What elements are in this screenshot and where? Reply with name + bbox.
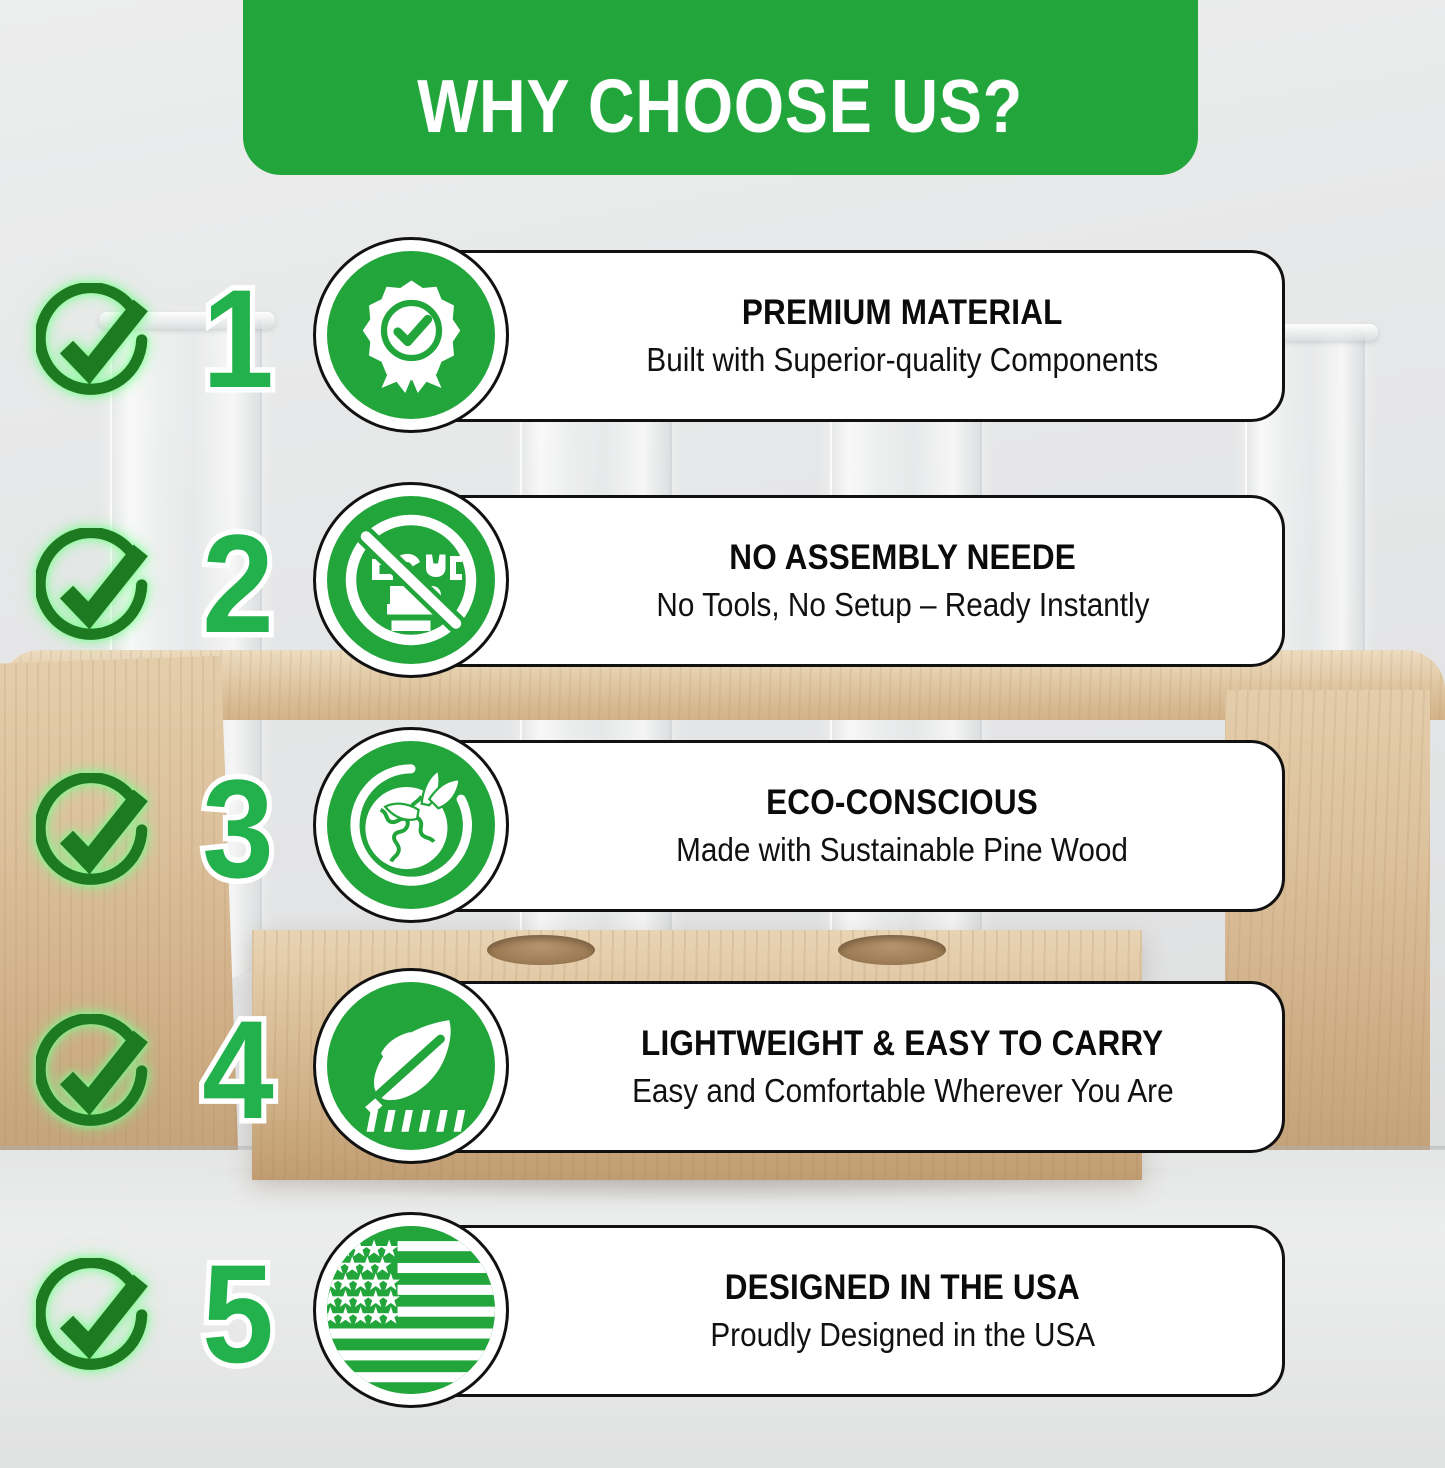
page-title: WHY CHOOSE US?	[418, 63, 1024, 149]
feature-title: LIGHTWEIGHT & EASY TO CARRY	[641, 1025, 1163, 1064]
feature-number: 4	[183, 994, 293, 1146]
feature-title: ECO-CONSCIOUS	[767, 784, 1039, 823]
checkmark-icon	[36, 773, 158, 895]
feature-subtitle: Proudly Designed in the USA	[710, 1317, 1095, 1353]
feature-title: PREMIUM MATERIAL	[742, 294, 1063, 333]
checkmark-icon	[36, 283, 158, 405]
usa-flag-icon	[313, 1212, 509, 1408]
no-tools-icon	[313, 482, 509, 678]
feature-number: 1	[183, 263, 293, 415]
feature-card: NO ASSEMBLY NEEDE No Tools, No Setup – R…	[398, 495, 1285, 667]
header-banner: WHY CHOOSE US?	[243, 0, 1198, 175]
quality-badge-icon	[313, 237, 509, 433]
feature-row: 3 ECO-CONS	[0, 727, 1445, 927]
feature-number: 3	[183, 753, 293, 905]
checkmark-icon	[36, 1014, 158, 1136]
feature-card: PREMIUM MATERIAL Built with Superior-qua…	[398, 250, 1285, 422]
feature-card: LIGHTWEIGHT & EASY TO CARRY Easy and Com…	[398, 981, 1285, 1153]
checkmark-icon	[36, 1258, 158, 1380]
feature-title: NO ASSEMBLY NEEDE	[729, 539, 1076, 578]
feature-subtitle: Built with Superior-quality Components	[647, 342, 1159, 378]
feature-card: DESIGNED IN THE USA Proudly Designed in …	[398, 1225, 1285, 1397]
feature-number: 5	[183, 1238, 293, 1390]
feature-title: DESIGNED IN THE USA	[725, 1269, 1080, 1308]
feather-leaf-icon	[313, 968, 509, 1164]
feature-row: 1 PREMIUM MATERIAL Built with Superior-q…	[0, 237, 1445, 437]
feature-row: 2	[0, 482, 1445, 682]
feature-number: 2	[183, 508, 293, 660]
feature-subtitle: No Tools, No Setup – Ready Instantly	[656, 587, 1149, 623]
feature-list: 1 PREMIUM MATERIAL Built with Superior-q…	[0, 0, 1445, 1468]
checkmark-icon	[36, 528, 158, 650]
infographic-page: WHY CHOOSE US? 1	[0, 0, 1445, 1468]
feature-row: 5	[0, 1212, 1445, 1412]
feature-subtitle: Easy and Comfortable Wherever You Are	[632, 1073, 1174, 1109]
feature-card: ECO-CONSCIOUS Made with Sustainable Pine…	[398, 740, 1285, 912]
feature-row: 4	[0, 968, 1445, 1168]
eco-globe-leaf-icon	[313, 727, 509, 923]
feature-subtitle: Made with Sustainable Pine Wood	[677, 832, 1129, 868]
